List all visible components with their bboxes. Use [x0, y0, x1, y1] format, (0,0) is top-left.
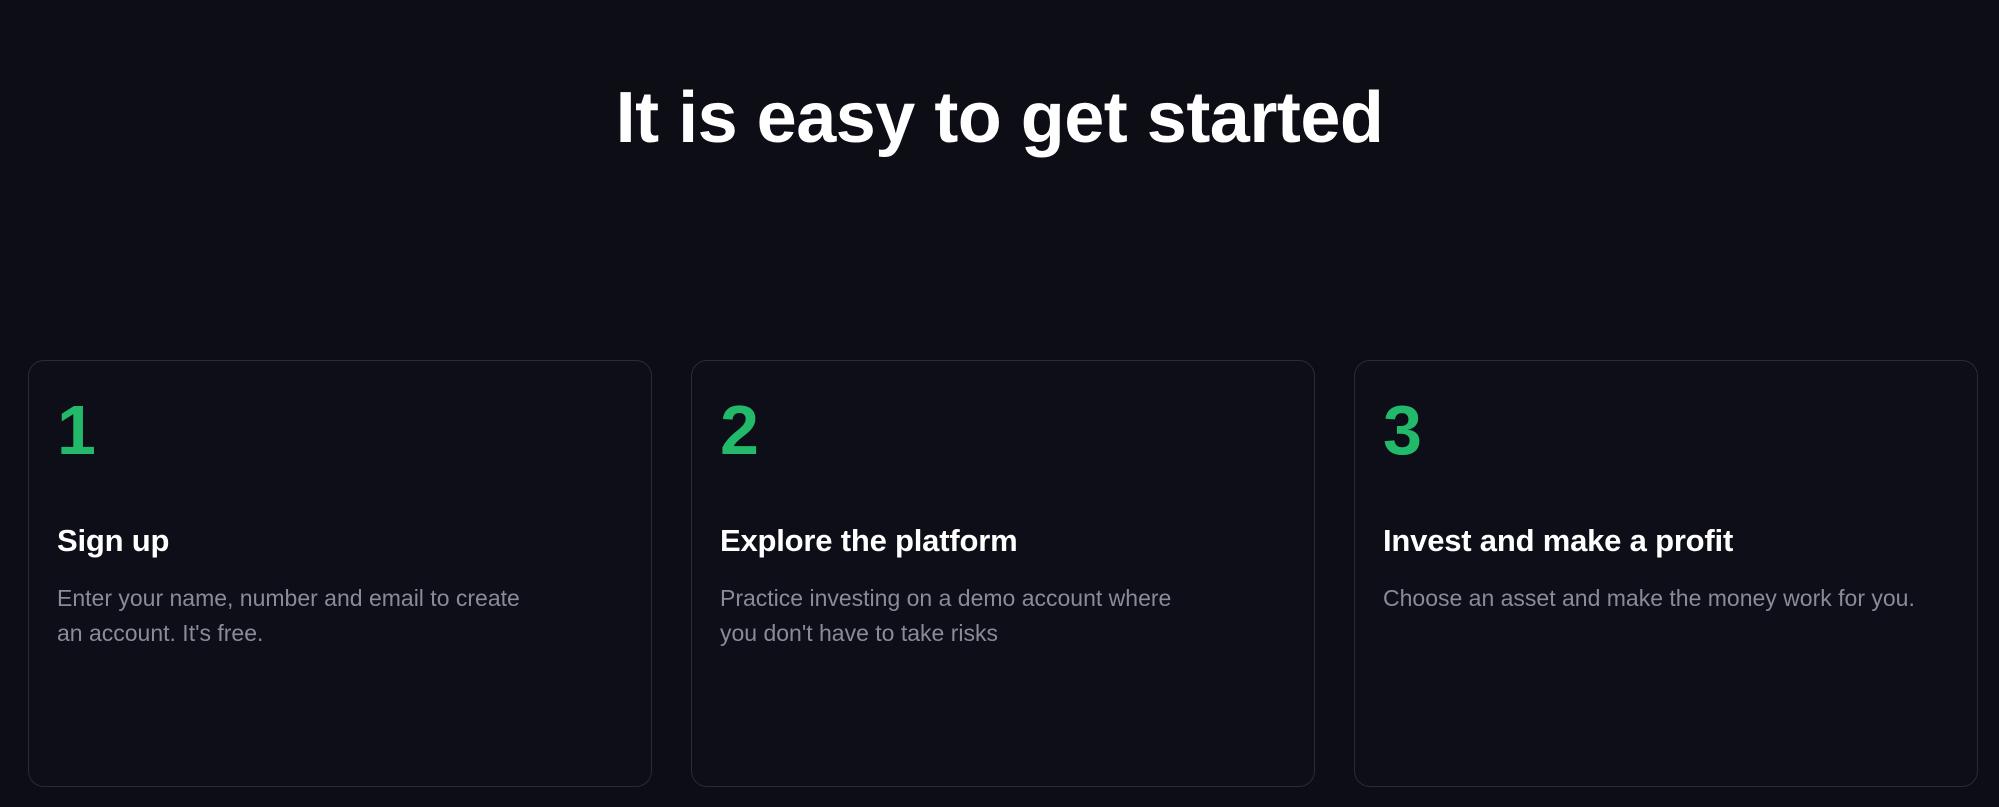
step-description-1: Enter your name, number and email to cre…	[57, 581, 527, 651]
step-number-1: 1	[57, 393, 623, 467]
step-description-3: Choose an asset and make the money work …	[1383, 581, 1949, 616]
step-title-3: Invest and make a profit	[1383, 523, 1949, 559]
step-number-3: 3	[1383, 393, 1949, 467]
step-title-2: Explore the platform	[720, 523, 1286, 559]
steps-grid: 1 Sign up Enter your name, number and em…	[28, 360, 1978, 787]
step-title-1: Sign up	[57, 523, 623, 559]
step-card-3[interactable]: 3 Invest and make a profit Choose an ass…	[1354, 360, 1978, 787]
page-title: It is easy to get started	[0, 74, 1999, 162]
step-description-2: Practice investing on a demo account whe…	[720, 581, 1190, 651]
step-card-1[interactable]: 1 Sign up Enter your name, number and em…	[28, 360, 652, 787]
step-card-2[interactable]: 2 Explore the platform Practice investin…	[691, 360, 1315, 787]
get-started-section: It is easy to get started 1 Sign up Ente…	[0, 0, 1999, 807]
step-number-2: 2	[720, 393, 1286, 467]
